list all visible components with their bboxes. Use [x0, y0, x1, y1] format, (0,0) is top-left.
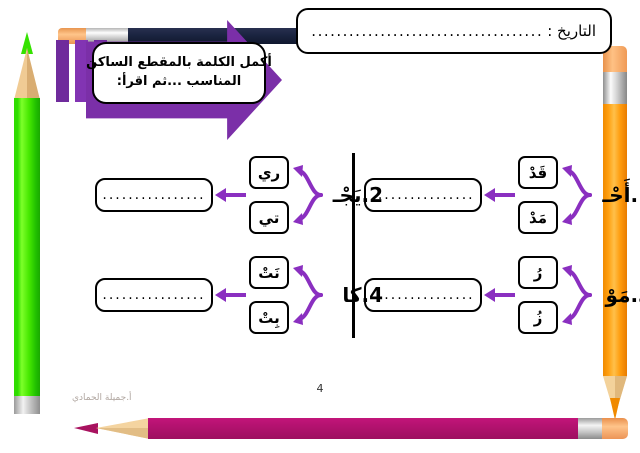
exercise-1-answer-dots: ................ [371, 188, 474, 202]
pencil-magenta-body [148, 418, 578, 439]
exercise-1-option-2[interactable]: مَدْ [518, 201, 558, 234]
instruction-line-1: أكمل الكلمة بالمقطع الساكن [86, 54, 272, 73]
exercise-1-options: قَدْ مَدْ [516, 156, 558, 234]
decorative-bar-1 [56, 40, 69, 102]
left-arrow-icon [213, 185, 247, 205]
pencil-magenta-tip [74, 423, 98, 434]
exercise-4-option-2[interactable]: بِتْ [249, 301, 289, 334]
exercise-3-options: رُ زُ [516, 256, 558, 334]
author-signature: أ.جميلة الحمادي [72, 393, 132, 403]
worksheet-page: التاريخ : ..............................… [0, 0, 640, 453]
exercise-2-option-2[interactable]: تي [249, 201, 289, 234]
pencil-magenta-wood-shade [96, 428, 150, 439]
branch-arrow-icon [289, 258, 323, 332]
date-label: التاريخ : [547, 22, 596, 40]
instruction-line-2: المناسب ...ثم اقرأ: [117, 73, 241, 92]
exercise-3-answer-dots: ................ [371, 288, 474, 302]
pencil-orange-ferrule [603, 72, 627, 104]
pencil-green-ferrule [14, 396, 40, 414]
exercise-4-stem: 4.كا [323, 283, 385, 307]
pencil-magenta-ferrule [578, 418, 604, 439]
date-blank-line[interactable]: ........................................… [312, 22, 543, 40]
pencil-green-wood-shade [27, 48, 40, 100]
exercise-4-answer-dots: ................ [102, 288, 205, 302]
pencil-magenta-eraser [602, 418, 628, 439]
left-arrow-icon [482, 185, 516, 205]
exercise-2-answer-blank[interactable]: ................ [95, 178, 213, 212]
exercise-2-answer-dots: ................ [102, 188, 205, 202]
pencil-green-body [14, 98, 40, 396]
exercise-4-answer-blank[interactable]: ................ [95, 278, 213, 312]
exercise-item-2: 2.يَجْـ ري تي ....... [95, 152, 385, 238]
exercise-3-option-1[interactable]: رُ [518, 256, 558, 289]
left-arrow-icon [482, 285, 516, 305]
exercise-4-option-1[interactable]: نَتْ [249, 256, 289, 289]
branch-arrow-icon [558, 258, 592, 332]
exercise-2-options: ري تي [247, 156, 289, 234]
exercise-1-stem: 1.أَحْـ [592, 183, 640, 207]
exercise-2-stem: 2.يَجْـ [323, 183, 385, 207]
exercise-3-option-2[interactable]: زُ [518, 301, 558, 334]
instruction-box: أكمل الكلمة بالمقطع الساكن المناسب ...ثم… [92, 42, 266, 104]
exercise-1-option-1[interactable]: قَدْ [518, 156, 558, 189]
exercise-item-4: 4.كا نَتْ بِتْ ...... [95, 252, 385, 338]
branch-arrow-icon [289, 158, 323, 232]
exercise-item-1: 1.أَحْـ قَدْ مَدْ ... [364, 152, 640, 238]
branch-arrow-icon [558, 158, 592, 232]
exercise-2-option-1[interactable]: ري [249, 156, 289, 189]
date-field[interactable]: التاريخ : ..............................… [296, 8, 612, 54]
left-arrow-icon [213, 285, 247, 305]
exercise-3-stem: 3.مَوْ [592, 283, 640, 307]
exercise-item-3: 3.مَوْ رُ زُ ........ [364, 252, 640, 338]
exercise-4-options: نَتْ بِتْ [247, 256, 289, 334]
pencil-orange-tip [610, 398, 620, 420]
